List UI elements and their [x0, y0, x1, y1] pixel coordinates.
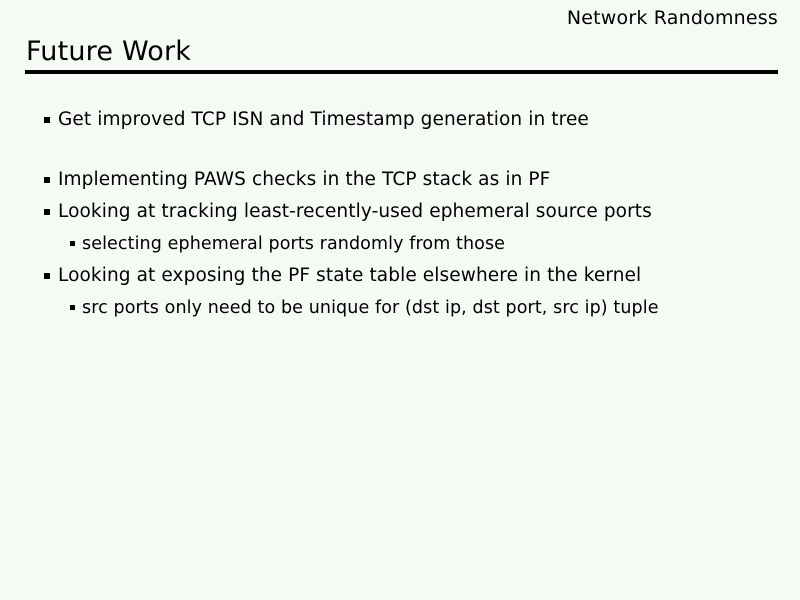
slide: Network Randomness Future Work Get impro… — [0, 0, 800, 600]
square-bullet-icon — [44, 117, 50, 123]
bullet-text: Looking at exposing the PF state table e… — [58, 260, 641, 292]
bullet-item: Implementing PAWS checks in the TCP stac… — [0, 164, 800, 196]
bullet-item: src ports only need to be unique for (ds… — [0, 292, 800, 324]
title-underline-rule — [25, 70, 778, 74]
square-bullet-small-icon — [70, 241, 75, 246]
bullet-list: Get improved TCP ISN and Timestamp gener… — [0, 104, 800, 324]
slide-header-title: Network Randomness — [567, 6, 778, 30]
page-title: Future Work — [26, 36, 191, 68]
bullet-text: Implementing PAWS checks in the TCP stac… — [58, 164, 550, 196]
bullet-item: Looking at tracking least-recently-used … — [0, 196, 800, 228]
bullet-text: Looking at tracking least-recently-used … — [58, 196, 652, 228]
bullet-text: selecting ephemeral ports randomly from … — [82, 228, 505, 260]
square-bullet-small-icon — [70, 305, 75, 310]
square-bullet-icon — [44, 209, 50, 215]
bullet-text: Get improved TCP ISN and Timestamp gener… — [58, 104, 589, 136]
bullet-item: Get improved TCP ISN and Timestamp gener… — [0, 104, 800, 136]
bullet-item: selecting ephemeral ports randomly from … — [0, 228, 800, 260]
bullet-text: src ports only need to be unique for (ds… — [82, 292, 659, 324]
bullet-item: Looking at exposing the PF state table e… — [0, 260, 800, 292]
square-bullet-icon — [44, 177, 50, 183]
square-bullet-icon — [44, 273, 50, 279]
